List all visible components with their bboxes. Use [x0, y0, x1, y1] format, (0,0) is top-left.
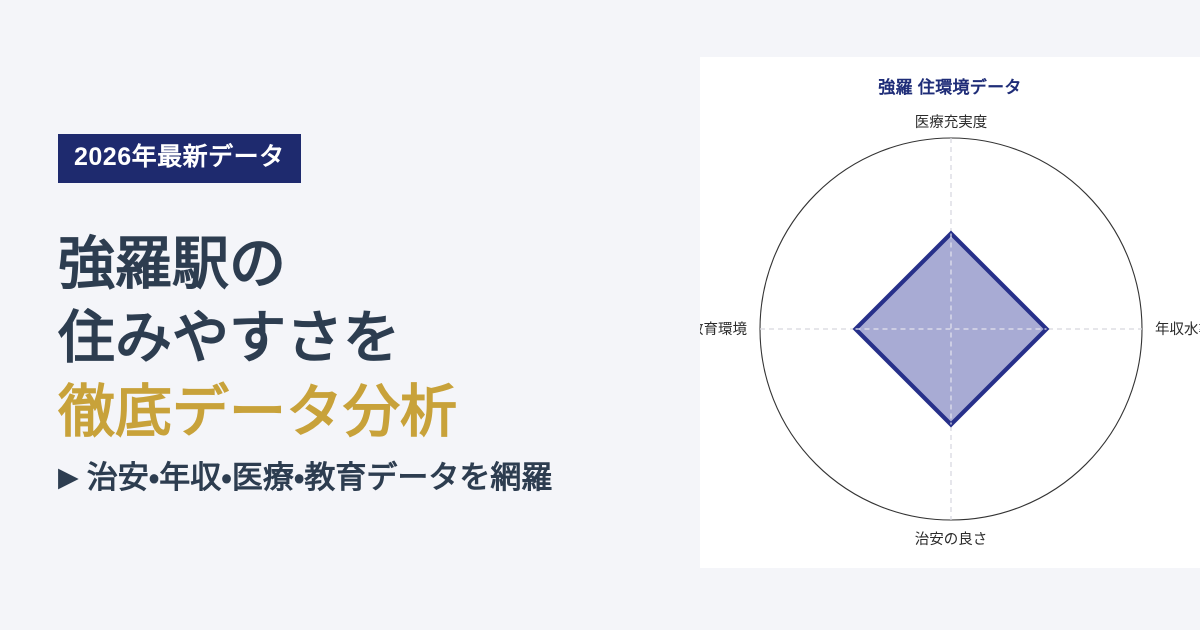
play-triangle-icon: ▶	[58, 464, 79, 491]
chart-card: 強羅 住環境データ 医療充実度 年収水準 治安の良さ 教育環境	[700, 57, 1200, 568]
ogp-canvas: 2026年最新データ 強羅駅の 住みやすさを 徹底データ分析 ▶ 治安・年収・医…	[0, 0, 1200, 630]
headline-line-1: 強羅駅の	[58, 227, 700, 301]
headline-line-3-accent: 徹底データ分析	[58, 375, 700, 449]
page-title: 強羅駅の 住みやすさを 徹底データ分析	[58, 227, 700, 449]
radar-label-right: 年収水準	[1155, 321, 1200, 338]
radar-label-left: 教育環境	[700, 321, 747, 338]
hero-text-column: 2026年最新データ 強羅駅の 住みやすさを 徹底データ分析 ▶ 治安・年収・医…	[0, 0, 700, 630]
latest-data-badge: 2026年最新データ	[58, 134, 301, 183]
headline-line-2: 住みやすさを	[58, 301, 700, 375]
radar-label-bottom: 治安の良さ	[915, 531, 988, 548]
radar-label-top: 医療充実度	[915, 114, 988, 131]
radar-chart-svg: 医療充実度 年収水準 治安の良さ 教育環境	[700, 57, 1200, 568]
hero-subtitle-text: 治安・年収・医療・教育データを網羅	[87, 459, 553, 496]
radar-chart: 医療充実度 年収水準 治安の良さ 教育環境	[700, 57, 1200, 568]
hero-subtitle: ▶ 治安・年収・医療・教育データを網羅	[58, 459, 700, 496]
